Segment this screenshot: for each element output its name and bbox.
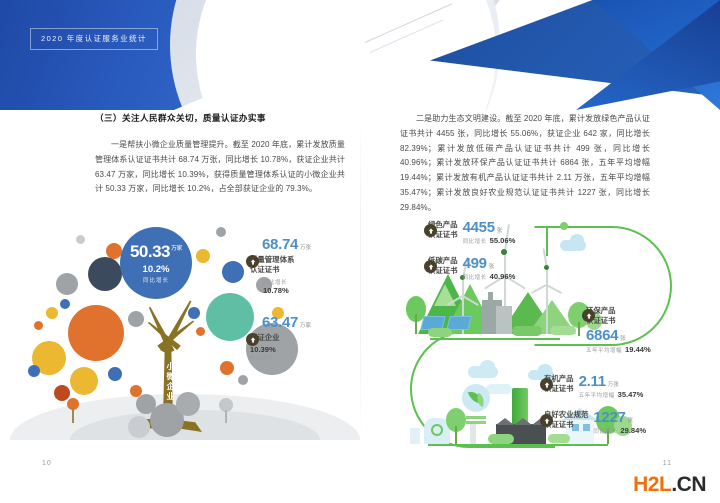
eco-infographic: 绿色产品 认证证书 4455 张 同比增长 55.06% xyxy=(400,212,720,482)
callout-value: 2.11 xyxy=(579,374,606,389)
callout-green-product: 绿色产品 认证证书 4455 张 同比增长 55.06% xyxy=(424,220,584,245)
callout-growth: 35.47% xyxy=(618,390,644,399)
callout-growth: 10.78% xyxy=(263,286,356,295)
bubble-tree-infographic: 小微企业 50.33万家 10.2% 同比增长 xyxy=(10,215,360,480)
highlight-growth-label: 同比增长 xyxy=(143,276,169,284)
header-decoration: 2020 年度认证服务业统计 xyxy=(0,0,720,110)
callout-growth-label: 五年平均增幅 xyxy=(586,346,622,354)
callout-certified-enterprises: 63.47 万家 获证企业 10.39% 同比增长 xyxy=(246,315,356,362)
callout-value: 6864 xyxy=(586,328,618,343)
page-number-right: 11 xyxy=(663,460,672,467)
callout-low-carbon-product: 低碳产品 认证证书 499 张 同比增长 40.96% xyxy=(424,256,584,281)
building-gray-short xyxy=(496,306,512,334)
wind-turbine-hub xyxy=(501,249,507,255)
page-number-left: 10 xyxy=(42,460,52,467)
callout-value: 499 xyxy=(463,256,487,271)
callout-unit: 万家 xyxy=(300,321,311,329)
tree-bubble xyxy=(70,367,98,395)
document-title: 2020 年度认证服务业统计 xyxy=(30,28,158,50)
callout-growth: 55.06% xyxy=(490,236,516,245)
bush xyxy=(488,434,514,444)
highlight-value: 50.33万家 xyxy=(130,243,182,260)
callout-environmental-product: 环保产品 认证证书 6864 张 五年平均增幅 19.44% xyxy=(582,306,720,354)
tree-bubble xyxy=(88,257,122,291)
small-tree-crown xyxy=(136,394,156,414)
bush xyxy=(512,326,542,336)
bush xyxy=(548,434,570,443)
left-paragraph: 一是帮扶小微企业质量管理提升。截至 2020 年底，累计发放质量管理体系认证证书… xyxy=(95,138,345,197)
callout-value: 4455 xyxy=(463,220,495,235)
callout-unit: 张 xyxy=(620,334,626,342)
callout-growth: 10.39% xyxy=(250,345,280,354)
arrow-up-icon xyxy=(424,224,437,237)
eco-tree-trunk xyxy=(578,322,580,336)
tree-bubble xyxy=(220,361,234,375)
callout-quality-system: 68.74 万张 质量管理体系 认证证书 同比增长 10.78% xyxy=(246,237,356,295)
eco-road-link-mid xyxy=(430,338,560,340)
right-paragraph: 二是助力生态文明建设。截至 2020 年底，累计发放绿色产品认证证书共计 445… xyxy=(400,112,650,216)
cloud-icon xyxy=(480,360,495,373)
callout-value: 68.74 xyxy=(262,237,298,252)
highlight-growth: 10.2% xyxy=(143,264,170,275)
tree-bubble xyxy=(196,249,210,263)
right-text-column: 二是助力生态文明建设。截至 2020 年底，累计发放绿色产品认证证书共计 445… xyxy=(400,112,650,216)
callout-unit: 张 xyxy=(497,226,503,234)
callout-growth-label: 同比增长 xyxy=(593,427,617,435)
page-gutter xyxy=(360,112,361,442)
watermark-part1: H2L xyxy=(633,473,671,496)
callout-unit: 张 xyxy=(628,416,634,424)
tree-bubble xyxy=(76,235,85,244)
callout-growth-label: 同比增长 xyxy=(263,278,356,286)
small-tree-bubble xyxy=(128,416,150,438)
callout-label-line2: 认证证书 xyxy=(586,316,651,326)
bush xyxy=(428,328,452,337)
cloud-icon xyxy=(486,384,512,394)
tree-bubble xyxy=(216,227,226,237)
callout-good-agriculture: 良好农业规范 认证证书 1227 张 同比增长 29.84% xyxy=(540,410,720,435)
small-tree-crown xyxy=(176,392,200,416)
tree-bubble xyxy=(238,375,248,385)
arrow-up-icon xyxy=(246,255,259,268)
tree-bubble xyxy=(196,327,205,336)
leaf-badge-line xyxy=(466,416,486,419)
leaf-badge-pole xyxy=(470,424,476,444)
arrow-up-icon xyxy=(540,414,553,427)
callout-growth-label: 五年平均增幅 xyxy=(579,391,615,399)
recycle-silo xyxy=(410,428,420,444)
callout-value: 1227 xyxy=(593,410,625,425)
callout-unit: 万张 xyxy=(300,243,311,251)
arrow-up-icon xyxy=(582,309,595,322)
callout-label-line1: 环保产品 xyxy=(586,306,651,316)
document-page: 2020 年度认证服务业统计 （三）关注人民群众关切，质量认证办实事 一是帮扶小… xyxy=(0,0,720,503)
recycle-icon xyxy=(431,424,443,436)
highlight-unit: 万家 xyxy=(171,246,182,252)
building-antenna xyxy=(488,292,493,302)
callout-growth-label: 同比增长 xyxy=(250,354,280,362)
callout-unit: 张 xyxy=(489,262,495,270)
eco-tree-trunk xyxy=(415,314,417,334)
tree-bubble xyxy=(46,307,58,319)
watermark-part2: CN xyxy=(677,473,706,496)
small-tree-trunk xyxy=(72,408,74,423)
callout-organic-product: 有机产品 认证证书 2.11 万张 五年平均增幅 35.47% xyxy=(540,374,720,399)
highlight-bubble: 50.33万家 10.2% 同比增长 xyxy=(120,227,192,299)
callout-growth-label: 同比增长 xyxy=(463,237,487,245)
tree-trunk-label: 小微企业 xyxy=(160,362,176,402)
leaf-badge-line xyxy=(466,421,486,424)
tree-bubble xyxy=(128,311,144,327)
arrow-up-icon xyxy=(540,378,553,391)
callout-growth: 19.44% xyxy=(625,345,651,354)
callout-growth: 29.84% xyxy=(620,426,646,435)
callout-unit: 万张 xyxy=(608,380,619,388)
tree-bubble xyxy=(222,261,244,283)
arrow-up-icon xyxy=(246,333,259,346)
tree-bubble xyxy=(108,367,122,381)
eco-tree-trunk xyxy=(455,426,457,444)
small-tree-orange xyxy=(62,398,80,424)
bush xyxy=(550,326,576,335)
left-text-column: （三）关注人民群众关切，质量认证办实事 一是帮扶小微企业质量管理提升。截至 20… xyxy=(95,112,345,197)
small-tree-gray-right xyxy=(176,392,206,426)
eco-road-link-bottom xyxy=(428,444,608,446)
callout-value: 63.47 xyxy=(262,315,298,330)
tree-bubble xyxy=(60,299,70,309)
tree-bubble xyxy=(188,307,200,319)
callout-growth-label: 同比增长 xyxy=(463,273,487,281)
arrow-up-icon xyxy=(424,260,437,273)
section-heading: （三）关注人民群众关切，质量认证办实事 xyxy=(95,112,345,124)
small-tree-bare xyxy=(216,398,234,424)
tree-bubble xyxy=(56,273,78,295)
tree-bubble xyxy=(68,305,124,361)
tree-bubble xyxy=(34,321,43,330)
watermark: H2L.CN xyxy=(633,473,706,497)
tree-bubble xyxy=(28,365,40,377)
small-tree-trunk xyxy=(225,410,227,423)
callout-growth: 40.96% xyxy=(490,272,516,281)
